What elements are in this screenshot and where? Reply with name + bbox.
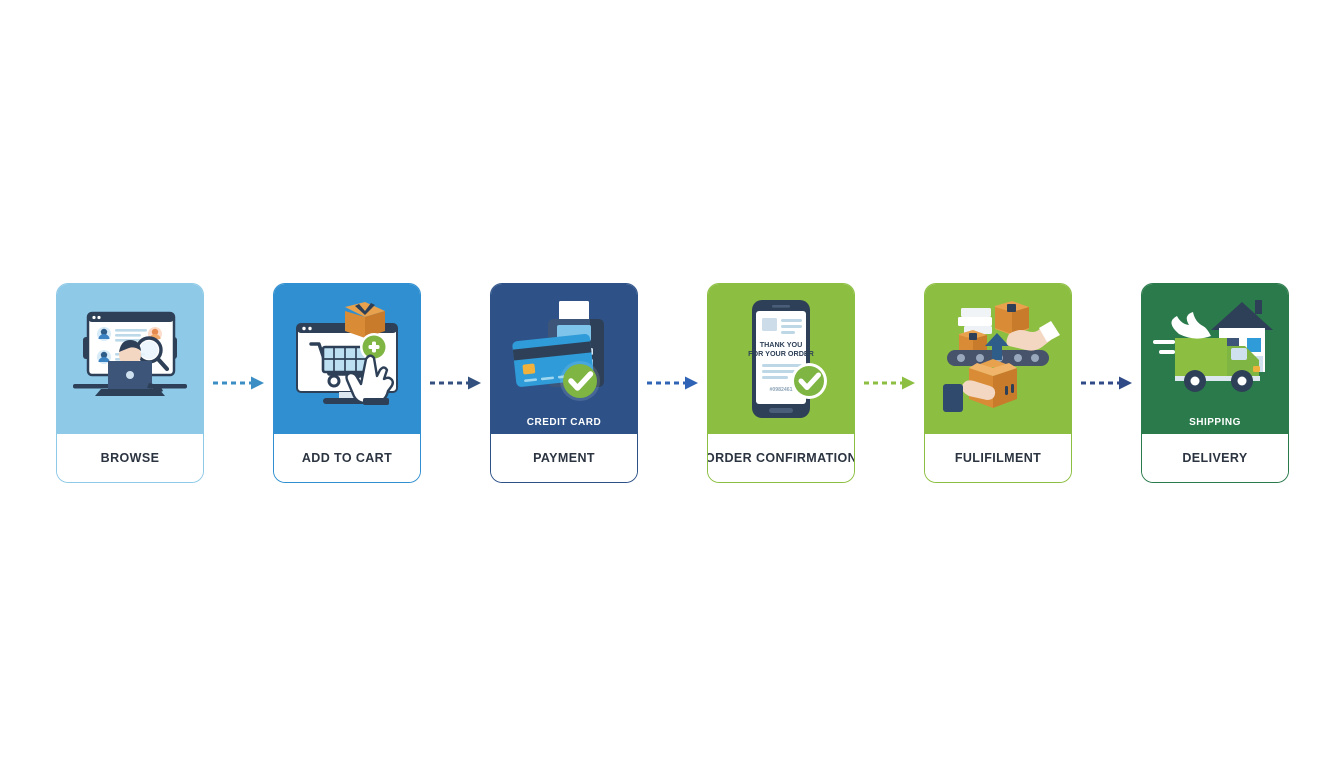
step-art-fulfilment — [925, 284, 1071, 434]
step-caption-delivery: SHIPPING — [1142, 417, 1288, 428]
step-caption-payment: CREDIT CARD — [491, 417, 637, 428]
diagram-canvas: BROWSE — [0, 0, 1344, 768]
delivery-truck-icon — [1149, 300, 1281, 418]
arrow-2 — [421, 283, 490, 483]
step-label-delivery: DELIVERY — [1142, 434, 1288, 482]
step-card-delivery[interactable]: SHIPPING DELIVERY — [1141, 283, 1289, 483]
arrow-4 — [855, 283, 924, 483]
step-card-browse[interactable]: BROWSE — [56, 283, 204, 483]
step-art-delivery: SHIPPING — [1142, 284, 1288, 434]
arrow-3 — [638, 283, 707, 483]
step-art-payment: CREDIT CARD — [491, 284, 637, 434]
conveyor-packing-icon — [935, 296, 1061, 422]
step-art-order-confirmation: THANK YOU FOR YOUR ORDER #0982461 — [708, 284, 854, 434]
step-label-order-confirmation: ORDER CONFIRMATION — [708, 434, 854, 482]
phone-thankyou-line2: FOR YOUR ORDER — [748, 349, 815, 358]
shopping-cart-icon — [283, 299, 411, 419]
step-card-order-confirmation[interactable]: THANK YOU FOR YOUR ORDER #0982461 — [707, 283, 855, 483]
credit-card-terminal-icon — [502, 301, 626, 417]
step-label-fulfilment: FULIFILMENT — [925, 434, 1071, 482]
step-card-payment[interactable]: CREDIT CARD PAYMENT — [490, 283, 638, 483]
phone-order-ref: #0982461 — [769, 387, 792, 393]
phone-confirmation-icon: THANK YOU FOR YOUR ORDER #0982461 — [726, 294, 836, 424]
step-label-browse: BROWSE — [57, 434, 203, 482]
process-flow: BROWSE — [56, 283, 1288, 483]
step-art-browse — [57, 284, 203, 434]
step-card-fulfilment[interactable]: FULIFILMENT — [924, 283, 1072, 483]
phone-thankyou-line1: THANK YOU — [760, 340, 803, 349]
arrow-1 — [204, 283, 273, 483]
step-card-add-to-cart[interactable]: ADD TO CART — [273, 283, 421, 483]
browse-laptop-icon — [65, 299, 195, 419]
step-art-add-to-cart — [274, 284, 420, 434]
step-label-payment: PAYMENT — [491, 434, 637, 482]
step-label-add-to-cart: ADD TO CART — [274, 434, 420, 482]
arrow-5 — [1072, 283, 1141, 483]
